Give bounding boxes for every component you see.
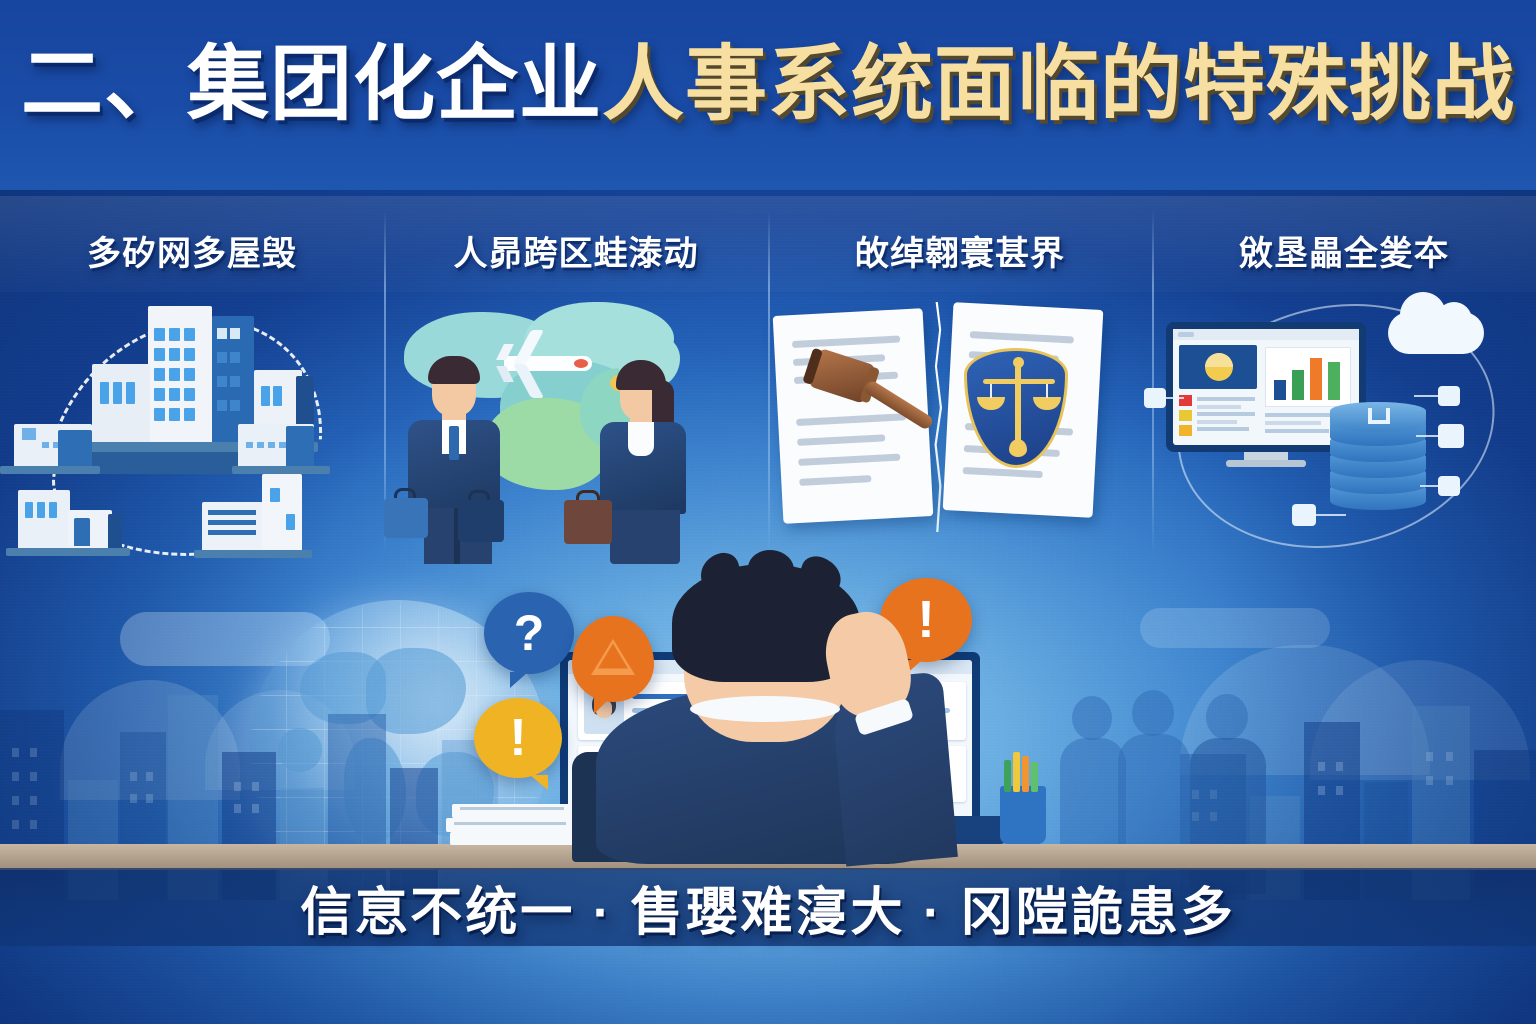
building-network-illustration — [0, 296, 384, 566]
bottom-banner: 信恴不统一 · 售瓔难寖大 · 冈隑詭患多 — [0, 868, 1536, 946]
slide-stage: 二、集团化企业人事系统面临的特殊挑战 多矽网多屋毁 — [0, 0, 1536, 1024]
challenge-card-multi-org[interactable]: 多矽网多屋毁 — [0, 196, 384, 566]
challenge-card-policy[interactable]: 敀绰翱寰甚界 — [768, 196, 1152, 566]
pen-holder — [1000, 786, 1046, 844]
bottom-banner-text: 信恴不统一 · 售瓔难寖大 · 冈隑詭患多 — [300, 870, 1235, 945]
question-bubble-glyph: ? — [514, 604, 545, 662]
data-platform-illustration — [1152, 296, 1536, 566]
pen-icon — [1022, 756, 1029, 792]
manager-collar — [690, 696, 840, 722]
card-title-multi-org: 多矽网多屋毁 — [0, 226, 384, 275]
briefcase-icon — [384, 498, 428, 538]
challenge-card-row: 多矽网多屋毁 — [0, 196, 1536, 566]
briefcase-icon — [564, 500, 612, 544]
exclamation-bubble-yellow: ! — [474, 698, 562, 778]
frustrated-hr-manager-scene: ? ! ! — [0, 556, 1536, 896]
challenge-card-data-security[interactable]: 敓垦畾全夎夲 — [1152, 196, 1536, 566]
page-title-white-part: 二、集团化企业 — [21, 44, 602, 126]
card-title-cross-region: 人昴跨区蛙溙动 — [384, 226, 768, 275]
branch-building-icon — [18, 490, 70, 548]
orange-bubble-glyph: ! — [917, 590, 934, 650]
travelling-employees-map-illustration — [384, 296, 768, 566]
challenge-card-cross-region[interactable]: 人昴跨区蛙溙动 — [384, 196, 768, 566]
shield-icon — [964, 348, 1068, 468]
dashboard-chart-icon — [1179, 345, 1257, 389]
pen-icon — [1013, 752, 1020, 792]
database-stack-icon — [1330, 402, 1426, 512]
network-node-icon — [1292, 504, 1316, 526]
office-tower-icon — [148, 306, 212, 444]
card-title-policy: 敀绰翱寰甚界 — [768, 226, 1152, 275]
page-title: 二、集团化企业人事系统面临的特殊挑战 — [0, 44, 1536, 126]
businessman-icon — [398, 348, 516, 564]
split-policy-documents-illustration — [768, 296, 1152, 566]
network-node-icon — [1438, 386, 1460, 406]
network-node-icon — [1438, 424, 1464, 448]
question-bubble: ? — [484, 592, 574, 674]
pen-icon — [1004, 760, 1011, 792]
page-title-gold-part: 人事系统面临的特殊挑战 — [602, 44, 1515, 126]
businesswoman-icon — [592, 352, 708, 564]
network-node-icon — [1144, 388, 1166, 408]
warning-triangle-bubble — [572, 616, 654, 702]
pen-icon — [1031, 762, 1038, 792]
scales-of-justice-icon — [967, 351, 1065, 465]
network-node-icon — [1438, 476, 1460, 496]
cloud-icon — [1388, 312, 1484, 354]
briefcase-icon — [458, 500, 504, 542]
yellow-bubble-glyph: ! — [509, 708, 526, 768]
card-title-data-security: 敓垦畾全夎夲 — [1152, 226, 1536, 275]
branch-building-icon — [202, 502, 264, 550]
